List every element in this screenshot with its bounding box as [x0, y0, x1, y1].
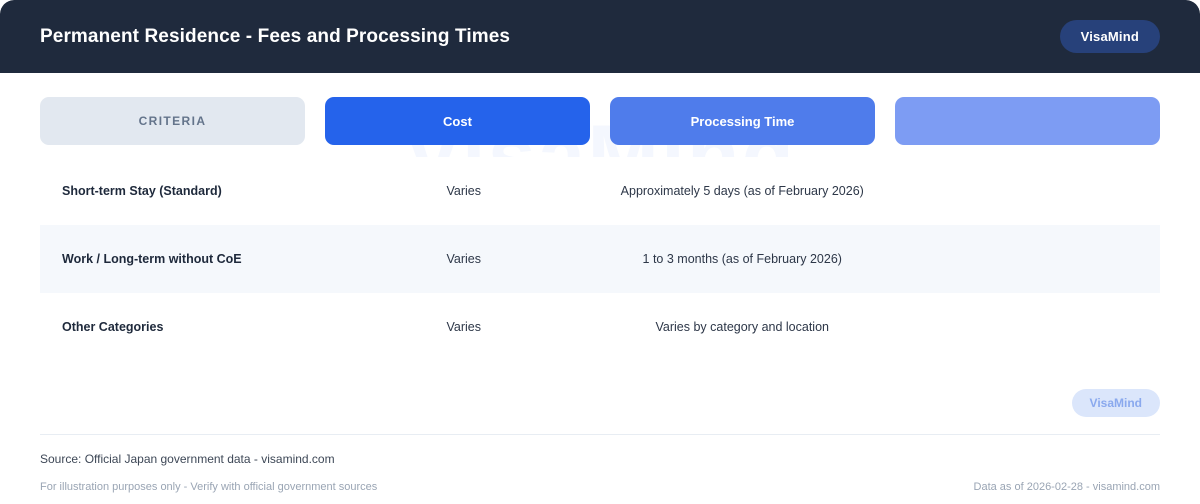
table-section: VisaMind CRITERIA Cost Processing Time S… — [0, 73, 1200, 361]
cell-cost: Varies — [325, 237, 604, 281]
watermark-badge: VisaMind — [1072, 389, 1160, 417]
cell-criteria: Work / Long-term without CoE — [40, 237, 325, 281]
brand-badge: VisaMind — [1060, 20, 1160, 53]
cell-cost: Varies — [325, 305, 604, 349]
page-footer: Source: Official Japan government data -… — [40, 434, 1160, 493]
column-header-cost[interactable]: Cost — [325, 97, 590, 145]
column-header-processing-time[interactable]: Processing Time — [610, 97, 875, 145]
cell-extra — [882, 177, 1161, 205]
page-header: Permanent Residence - Fees and Processin… — [0, 0, 1200, 73]
watermark-pill-container: VisaMind — [0, 361, 1200, 417]
cell-extra — [882, 245, 1161, 273]
footer-bottom-row: For illustration purposes only - Verify … — [40, 481, 1160, 493]
column-header-extra[interactable] — [895, 97, 1160, 145]
footer-data-date: Data as of 2026-02-28 - visamind.com — [974, 481, 1160, 493]
infographic-card: Permanent Residence - Fees and Processin… — [0, 0, 1200, 504]
cell-processing-time: Approximately 5 days (as of February 202… — [603, 169, 882, 213]
table-header-row: CRITERIA Cost Processing Time — [40, 97, 1160, 145]
table-row: Work / Long-term without CoE Varies 1 to… — [40, 225, 1160, 293]
cell-cost: Varies — [325, 169, 604, 213]
cell-extra — [882, 313, 1161, 341]
comparison-table: CRITERIA Cost Processing Time Short-term… — [40, 97, 1160, 361]
column-header-criteria[interactable]: CRITERIA — [40, 97, 305, 145]
table-row: Short-term Stay (Standard) Varies Approx… — [40, 157, 1160, 225]
cell-processing-time: 1 to 3 months (as of February 2026) — [603, 237, 882, 281]
page-title: Permanent Residence - Fees and Processin… — [40, 26, 510, 48]
footer-disclaimer: For illustration purposes only - Verify … — [40, 481, 377, 493]
cell-processing-time: Varies by category and location — [603, 305, 882, 349]
cell-criteria: Short-term Stay (Standard) — [40, 169, 325, 213]
cell-criteria: Other Categories — [40, 305, 325, 349]
table-row: Other Categories Varies Varies by catego… — [40, 293, 1160, 361]
footer-source: Source: Official Japan government data -… — [40, 452, 1160, 466]
